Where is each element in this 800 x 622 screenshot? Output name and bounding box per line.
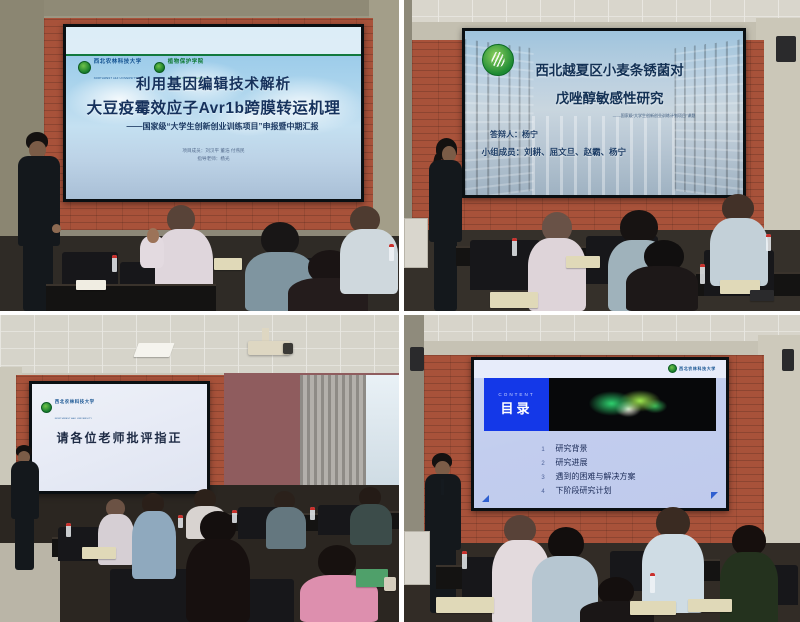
lecture-room-2: 西北越夏区小麦条锈菌对 戊唑醇敏感性研究 ——国家级“大学生创新创业训练计划项目…	[404, 0, 800, 311]
university-logo-cn: 西北农林科技大学	[679, 366, 716, 372]
presenter-4	[424, 453, 464, 613]
lecture-room-4: 西北农林科技大学 CONTENT 目录 1 研究背景	[404, 315, 800, 622]
audience-head	[318, 545, 356, 578]
decorative-artwork	[588, 387, 671, 420]
desk-notebook	[82, 547, 116, 559]
ceiling-grid	[0, 315, 399, 373]
collage-panel-4: 西北农林科技大学 CONTENT 目录 1 研究背景	[404, 315, 800, 622]
audience-member	[710, 194, 768, 286]
window	[366, 375, 399, 485]
photo-collage: 西北农林科技大学 NORTHWEST A&F UNIVERSITY 植物保护学院…	[0, 0, 800, 622]
list-item: 1 研究背景	[540, 443, 711, 454]
slide-2: 西北越夏区小麦条锈菌对 戊唑醇敏感性研究 ——国家级“大学生创新创业训练计划项目…	[465, 31, 743, 195]
wall-speaker	[410, 347, 424, 371]
university-seal-icon	[668, 364, 677, 373]
side-cabinet	[404, 218, 428, 268]
item-label: 研究进展	[556, 457, 588, 468]
presenter-3	[10, 445, 40, 570]
slide2-members: 小组成员：刘耕、屈文旦、赵霸、杨宁	[482, 146, 627, 158]
wall-speaker	[776, 36, 796, 62]
slide-subtitle: ——国家级“大学生创新创业训练项目”申报暨中期汇报	[84, 121, 361, 132]
list-item: 4 下阶段研究计划	[540, 485, 711, 496]
slide-1: 西北农林科技大学 NORTHWEST A&F UNIVERSITY 植物保护学院…	[66, 27, 361, 199]
window-curtain	[300, 375, 366, 497]
item-label: 下阶段研究计划	[556, 485, 612, 496]
corner-triangle-left-icon	[482, 495, 489, 502]
university-logo: 西北农林科技大学	[668, 364, 716, 373]
desk-notebook	[490, 292, 538, 308]
audience-body	[266, 507, 306, 549]
audience-body	[626, 266, 698, 311]
ceiling	[0, 0, 399, 16]
slide-4: 西北农林科技大学 CONTENT 目录 1 研究背景	[474, 360, 726, 508]
contents-badge-cn: 目录	[501, 398, 533, 417]
project-advisor: 指导老师：杨光	[66, 155, 361, 163]
ceiling-light	[133, 343, 174, 357]
lecture-room-1: 西北农林科技大学 NORTHWEST A&F UNIVERSITY 植物保护学院…	[0, 0, 399, 311]
audience-head	[620, 210, 658, 244]
desk-notebook	[214, 258, 242, 270]
presenter-hand	[52, 224, 61, 233]
slide4-banner: CONTENT 目录	[484, 378, 716, 431]
contents-list: 1 研究背景 2 研究进展 3 遇到的困难与解决方案 4	[540, 443, 711, 500]
audience-body	[132, 511, 176, 579]
college-logo-cn: 植物保护学院	[168, 59, 204, 65]
water-bottle	[389, 244, 394, 261]
desk-row	[46, 284, 216, 311]
slide-title-line1: 利用基因编辑技术解析	[66, 73, 361, 94]
lecture-room-3: 西北农林科技大学 NORTHWEST A&F UNIVERSITY 请各位老师批…	[0, 315, 399, 622]
presentation-screen-1: 西北农林科技大学 NORTHWEST A&F UNIVERSITY 植物保护学院…	[63, 24, 364, 202]
slide-3: 西北农林科技大学 NORTHWEST A&F UNIVERSITY 请各位老师批…	[32, 384, 207, 491]
ceiling-grid	[404, 0, 800, 22]
university-logo-cn: 西北农林科技大学	[55, 399, 95, 404]
tablet-device	[750, 290, 774, 301]
audience-member	[350, 487, 392, 545]
presenter-2	[429, 138, 464, 311]
audience-member	[626, 240, 698, 311]
slide-title-block: 利用基因编辑技术解析 大豆疫霉效应子Avr1b跨膜转运机理 ——国家级“大学生创…	[66, 73, 361, 132]
desk-cup	[384, 577, 396, 591]
collage-panel-2: 西北越夏区小麦条锈菌对 戊唑醇敏感性研究 ——国家级“大学生创新创业训练计划项目…	[404, 0, 800, 311]
audience-body	[340, 229, 398, 294]
slide2-title-line1: 西北越夏区小麦条锈菌对	[487, 59, 732, 79]
water-bottle	[178, 515, 183, 528]
item-label: 遇到的困难与解决方案	[556, 471, 636, 482]
desk-notebook	[688, 599, 732, 612]
desk-notebook	[630, 601, 676, 615]
water-bottle	[232, 510, 237, 523]
audience-member	[580, 577, 654, 622]
collage-panel-3: 西北农林科技大学 NORTHWEST A&F UNIVERSITY 请各位老师批…	[0, 315, 399, 622]
presentation-screen-2: 西北越夏区小麦条锈菌对 戊唑醇敏感性研究 ——国家级“大学生创新创业训练计划项目…	[462, 28, 746, 198]
water-bottle	[112, 255, 117, 272]
item-number: 4	[540, 489, 547, 495]
water-bottle	[66, 523, 71, 537]
audience-member	[266, 491, 306, 549]
desk-notebook	[436, 597, 494, 613]
list-item: 3 遇到的困难与解决方案	[540, 471, 711, 482]
presentation-screen-3: 西北农林科技大学 NORTHWEST A&F UNIVERSITY 请各位老师批…	[29, 381, 210, 494]
audience-member-arm	[140, 228, 166, 268]
hand	[147, 228, 159, 243]
university-logo-cn: 西北农林科技大学	[94, 59, 142, 65]
closing-message: 请各位老师批评指正	[32, 429, 207, 446]
item-number: 2	[540, 461, 547, 467]
water-bottle	[462, 551, 467, 569]
slide2-title-line2: 戊唑醇敏感性研究	[487, 87, 732, 107]
audience-body	[186, 539, 250, 622]
side-cabinet	[404, 531, 430, 585]
university-seal-icon	[41, 402, 52, 413]
college-seal-icon	[154, 62, 165, 73]
water-bottle	[512, 238, 517, 256]
university-logo-en: NORTHWEST A&F UNIVERSITY	[55, 418, 92, 420]
item-label: 研究背景	[556, 443, 588, 454]
right-wall	[369, 0, 399, 240]
contents-badge: CONTENT 目录	[484, 378, 549, 431]
slide2-presenter: 答辩人：杨宁	[490, 129, 538, 140]
university-seal-icon	[78, 61, 91, 74]
university-logo: 西北农林科技大学 NORTHWEST A&F UNIVERSITY	[41, 391, 95, 423]
audience-body	[710, 218, 768, 286]
water-bottle	[310, 507, 315, 520]
audience-member	[132, 493, 176, 579]
item-number: 1	[540, 447, 547, 453]
presenter-suit	[429, 160, 462, 242]
presentation-screen-4: 西北农林科技大学 CONTENT 目录 1 研究背景	[471, 357, 729, 511]
collage-panel-1: 西北农林科技大学 NORTHWEST A&F UNIVERSITY 植物保护学院…	[0, 0, 399, 311]
list-item: 2 研究进展	[540, 457, 711, 468]
project-members: 项目成员：刘汉平 董浩 付燕民	[66, 147, 361, 155]
audience-member	[186, 511, 250, 622]
contents-badge-en: CONTENT	[498, 392, 534, 397]
water-bottle	[650, 573, 655, 593]
water-bottle	[766, 234, 771, 251]
presenter-trousers	[15, 515, 34, 570]
corner-triangle-right-icon	[711, 492, 718, 499]
ceiling-grid	[404, 315, 800, 341]
projector-lens	[283, 343, 293, 354]
slide-title-line2: 大豆疫霉效应子Avr1b跨膜转运机理	[66, 96, 361, 118]
left-wall	[404, 0, 412, 240]
desk-paper	[76, 280, 106, 290]
audience-body	[350, 504, 392, 545]
presenter-suit	[11, 461, 39, 519]
slide-footer-block: 项目成员：刘汉平 董浩 付燕民 指导老师：杨光	[66, 147, 361, 163]
slide2-subtitle: ——国家级“大学生创新创业训练计划项目”课题	[576, 113, 732, 119]
water-bottle	[700, 264, 705, 284]
presenter-tie	[441, 479, 444, 495]
presenter-trousers	[434, 236, 457, 311]
wall-speaker	[782, 349, 794, 371]
item-number: 3	[540, 475, 547, 481]
desk-notebook	[566, 256, 600, 268]
